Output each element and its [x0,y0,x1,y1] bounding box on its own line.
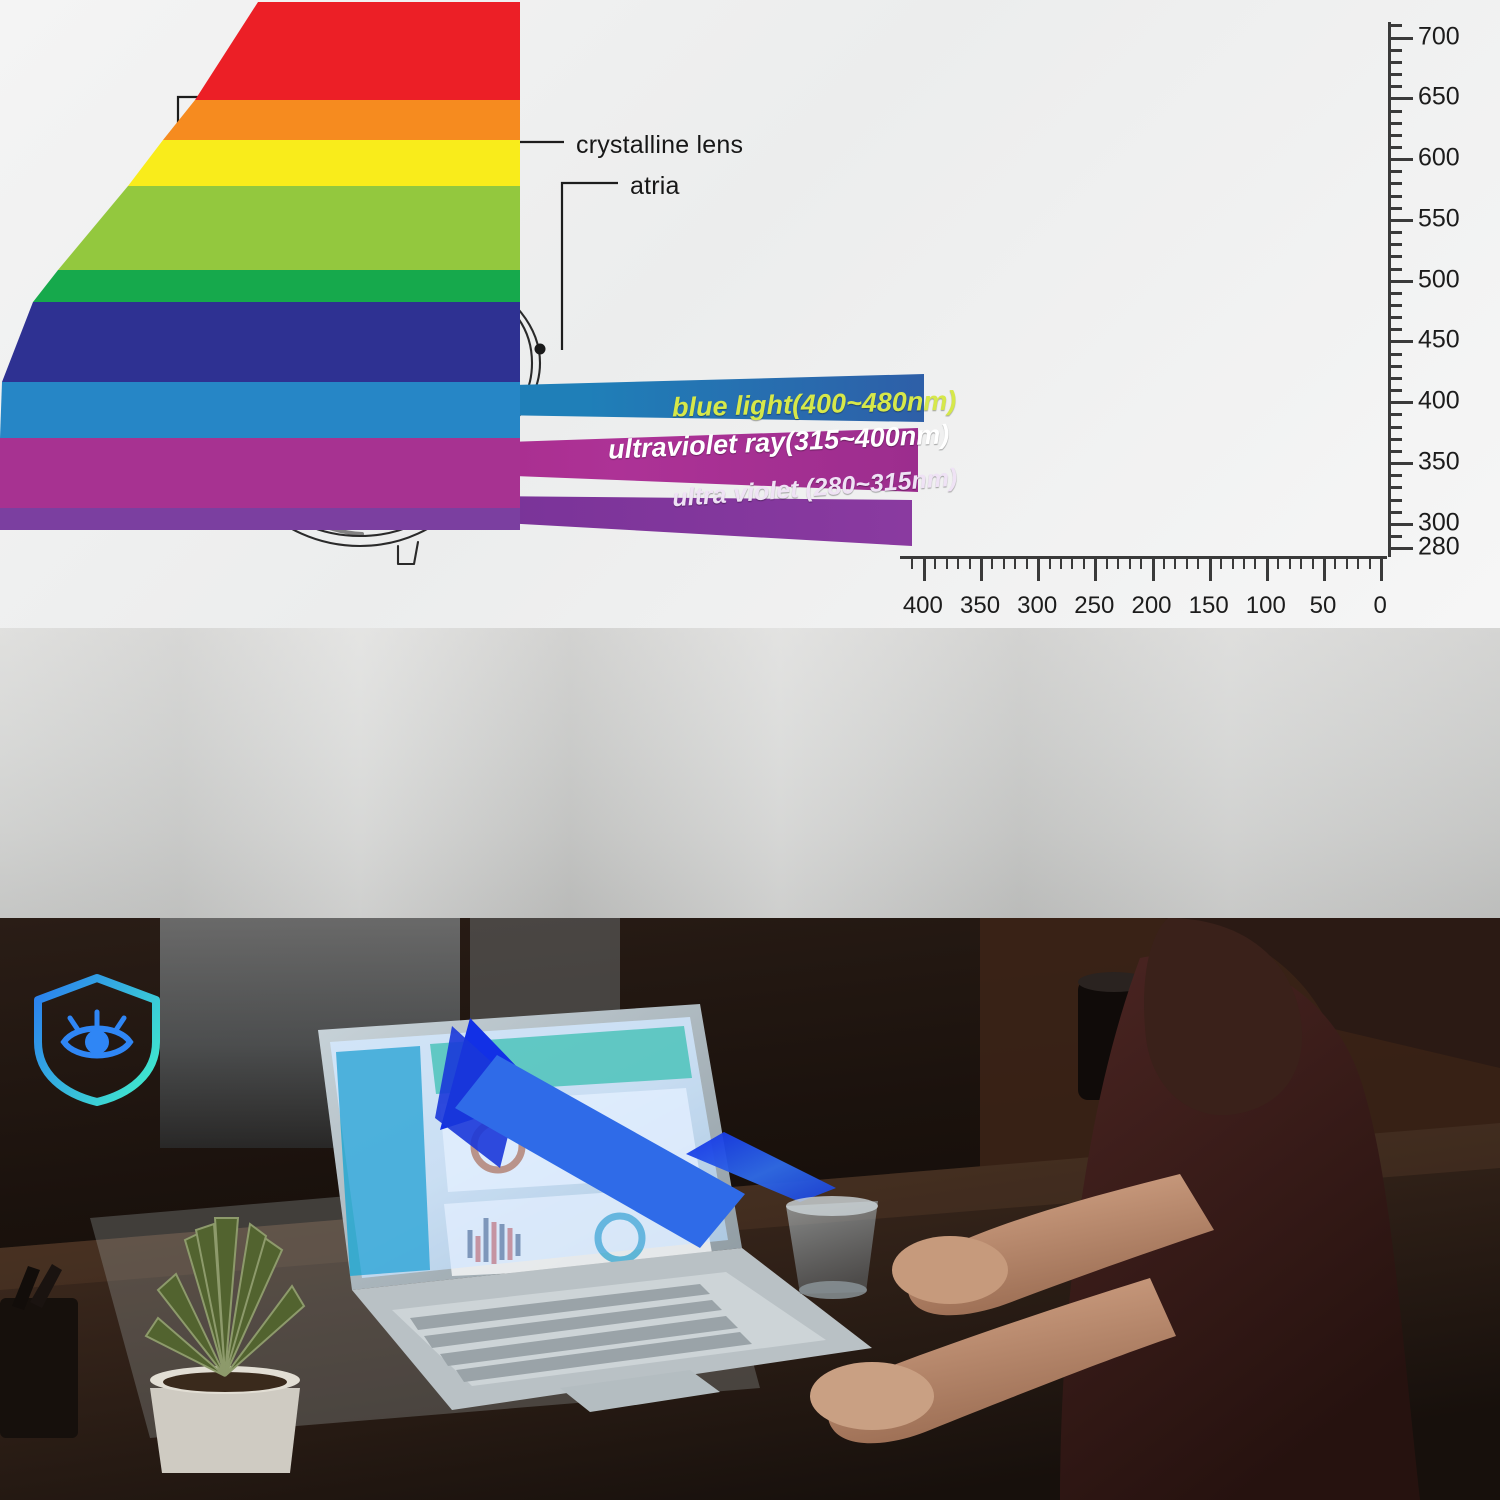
axis-tick-minor [1391,134,1402,137]
axis-tick-minor [1391,413,1402,416]
product-infographic: retina macular region crystalline lens a… [0,0,1500,1500]
axis-tick-minor [1049,559,1051,569]
axis-tick-minor [1174,559,1176,569]
axis-tick-minor [1391,122,1402,125]
axis-label-wavelength: 280 [1418,533,1460,562]
axis-label-wavelength: 650 [1418,83,1460,112]
axis-tick-minor [1197,559,1199,569]
axis-tick-minor [1014,559,1016,569]
axis-tick-minor [1254,559,1256,569]
band-magenta [0,438,520,508]
axis-tick-minor [1277,559,1279,569]
axis-tick-major [1323,559,1326,581]
band-yellow [128,140,520,186]
axis-tick-minor [1163,559,1165,569]
axis-tick-minor [1186,559,1188,569]
axis-label-penetration: 150 [1189,592,1229,620]
axis-tick-minor [1391,353,1402,356]
axis-tick-minor [1391,182,1402,185]
axis-tick-minor [1391,450,1402,453]
axis-label-penetration: 0 [1373,592,1386,620]
axis-tick-major [1391,340,1413,343]
axis-tick-minor [1391,255,1402,258]
axis-tick-minor [1391,486,1402,489]
axis-tick-minor [1071,559,1073,569]
axis-label-penetration: 100 [1246,592,1286,620]
axis-label-wavelength: 450 [1418,326,1460,355]
axis-tick-major [1391,280,1413,283]
axis-tick-minor [1391,195,1402,198]
spectrum-penetration-chart [0,0,520,530]
axis-tick-major [1391,462,1413,465]
axis-tick-minor [1391,268,1402,271]
axis-label-penetration: 200 [1131,592,1171,620]
axis-tick-minor [1003,559,1005,569]
axis-tick-major [1152,559,1155,581]
axis-tick-minor [991,559,993,569]
axis-tick-minor [946,559,948,569]
band-orange [163,100,520,140]
axis-tick-minor [1106,559,1108,569]
axis-tick-minor [1369,559,1371,569]
axis-tick-major [923,559,926,581]
axis-label-wavelength: 350 [1418,448,1460,477]
axis-tick-minor [1312,559,1314,569]
band-yellow-green [58,186,520,270]
axis-label-wavelength: 700 [1418,22,1460,51]
band-indigo [2,302,520,382]
axis-tick-major [1391,219,1413,222]
axis-tick-minor [1117,559,1119,569]
axis-label-wavelength: 550 [1418,204,1460,233]
axis-tick-major [1391,37,1413,40]
axis-label-penetration: 50 [1310,592,1337,620]
axis-tick-minor [934,559,936,569]
axis-tick-minor [1346,559,1348,569]
axis-tick-minor [1391,377,1402,380]
axis-tick-minor [1391,304,1402,307]
axis-tick-major [1391,523,1413,526]
shield-eye-icon [22,968,172,1108]
axis-tick-minor [1391,207,1402,210]
axis-tick-minor [1391,85,1402,88]
axis-tick-minor [1391,110,1402,113]
axis-tick-minor [1334,559,1336,569]
axis-tick-minor [1060,559,1062,569]
axis-tick-major [1266,559,1269,581]
axis-tick-minor [1391,146,1402,149]
axis-label-penetration: 350 [960,592,1000,620]
axis-tick-minor [1243,559,1245,569]
axis-tick-minor [1391,243,1402,246]
axis-tick-minor [1289,559,1291,569]
axis-tick-minor [1391,438,1402,441]
axis-tick-minor [1391,328,1402,331]
axis-tick-major [1391,158,1413,161]
label-atria: atria [630,172,680,201]
axis-tick-major [1094,559,1097,581]
band-red [195,2,520,100]
axis-label-wavelength: 500 [1418,265,1460,294]
axis-tick-major [1380,559,1383,581]
axis-tick-minor [1391,231,1402,234]
axis-tick-minor [1391,73,1402,76]
axis-label-wavelength: 600 [1418,144,1460,173]
axis-tick-minor [1391,389,1402,392]
axis-tick-major [980,559,983,581]
label-crystalline-lens: crystalline lens [576,131,743,160]
axis-tick-minor [1391,49,1402,52]
axis-tick-major [1037,559,1040,581]
wavelength-axis [1388,22,1410,557]
axis-tick-minor [1391,474,1402,477]
band-violet [0,508,520,530]
axis-tick-minor [1300,559,1302,569]
axis-tick-major [1391,401,1413,404]
axis-tick-minor [957,559,959,569]
axis-tick-minor [1391,292,1402,295]
axis-label-wavelength: 400 [1418,387,1460,416]
band-blue [0,382,520,438]
axis-tick-minor [969,559,971,569]
axis-tick-major [1209,559,1212,581]
penetration-axis [900,556,1387,578]
axis-label-penetration: 400 [903,592,943,620]
axis-tick-minor [1357,559,1359,569]
axis-tick-minor [1391,170,1402,173]
eye-diagram-panel: retina macular region crystalline lens a… [0,0,1500,628]
axis-tick-minor [1391,316,1402,319]
axis-tick-minor [1391,499,1402,502]
axis-tick-minor [1026,559,1028,569]
axis-tick-minor [1083,559,1085,569]
axis-tick-minor [1220,559,1222,569]
desk-scene-photo [0,918,1500,1500]
axis-tick-major [1391,547,1413,550]
axis-tick-minor [1129,559,1131,569]
axis-tick-minor [1391,426,1402,429]
lifestyle-photo-panel: 380nm~450nm Blue Light Blocking Reduce D… [0,918,1500,1500]
spectrum-bar-panel: UV Ray Blue Light Visible light Infrared… [0,628,1500,918]
axis-tick-major [1391,97,1413,100]
axis-tick-minor [1391,535,1402,538]
axis-label-penetration: 250 [1074,592,1114,620]
axis-tick-minor [911,559,913,569]
axis-label-penetration: 300 [1017,592,1057,620]
axis-tick-minor [1391,511,1402,514]
axis-tick-minor [1391,365,1402,368]
axis-tick-minor [1391,61,1402,64]
axis-tick-minor [1140,559,1142,569]
axis-tick-minor [1391,24,1402,27]
band-green [33,270,520,302]
axis-tick-minor [1232,559,1234,569]
